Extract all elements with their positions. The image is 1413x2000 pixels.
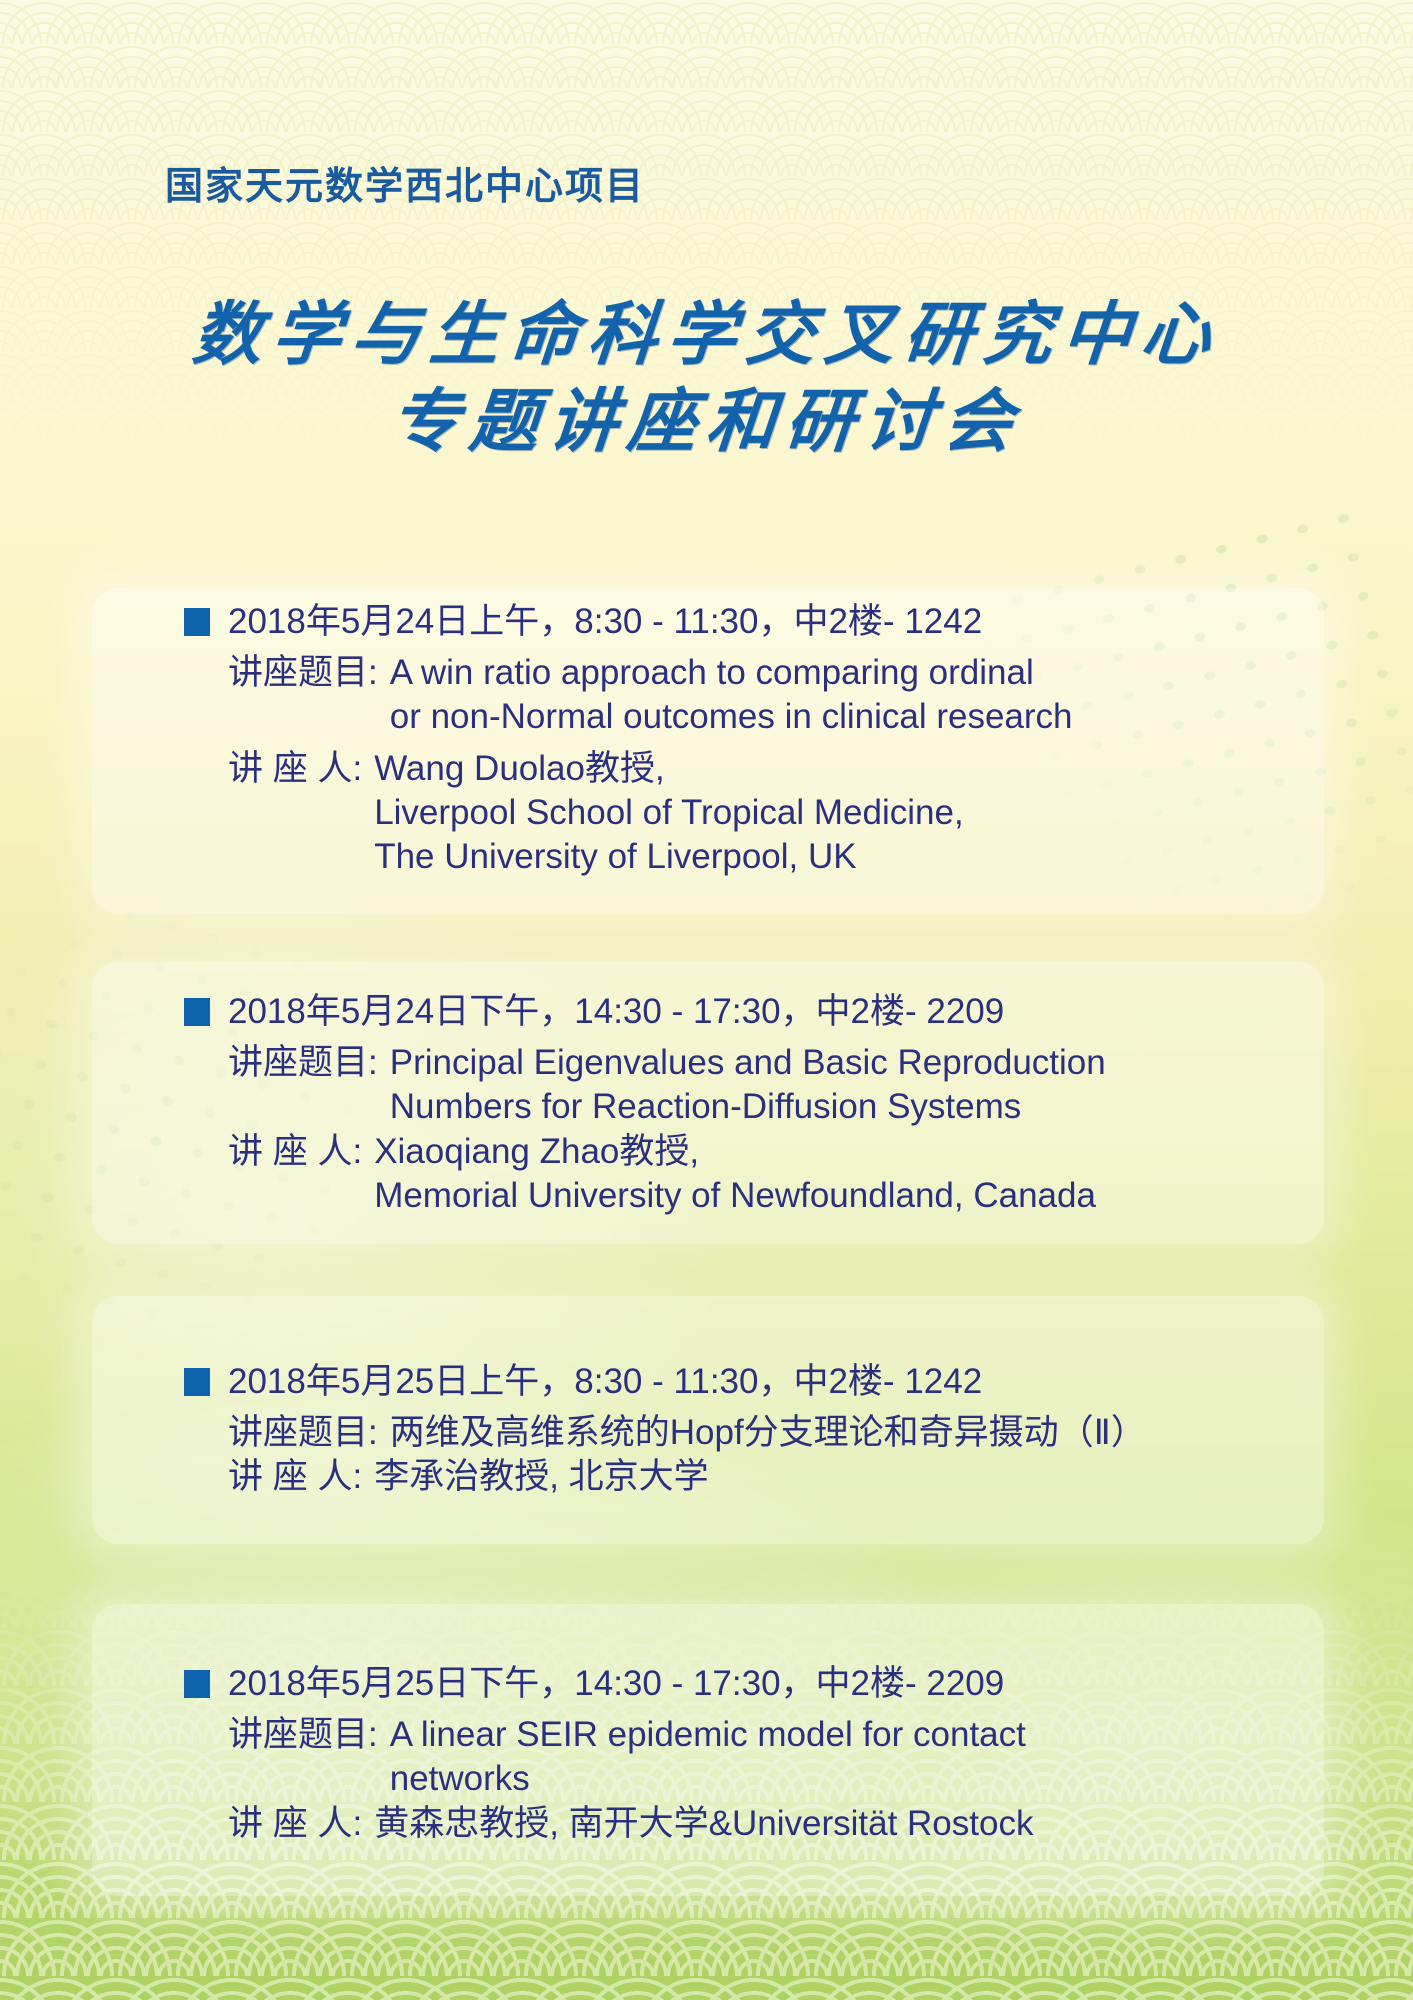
session-speaker-row: 讲 座 人: Xiaoqiang Zhao教授, Memorial Univer… bbox=[228, 1130, 1106, 1218]
session-topic-label: 讲座题目: bbox=[228, 1411, 378, 1455]
session-topic-value: Principal Eigenvalues and Basic Reproduc… bbox=[390, 1041, 1106, 1129]
poster-title-line-2: 专题讲座和研讨会 bbox=[0, 379, 1413, 466]
session-topic-row: 讲座题目: 两维及高维系统的Hopf分支理论和奇异摄动（Ⅱ） bbox=[228, 1411, 1146, 1455]
session-topic-value: A linear SEIR epidemic model for contact… bbox=[390, 1713, 1034, 1801]
session-speaker-value: Wang Duolao教授, Liverpool School of Tropi… bbox=[374, 747, 1072, 879]
poster-title-line-1: 数学与生命科学交叉研究中心 bbox=[0, 292, 1413, 379]
session-speaker-label: 讲 座 人: bbox=[228, 1455, 362, 1499]
organization-line: 国家天元数学西北中心项目 bbox=[165, 155, 645, 210]
session-speaker-row: 讲 座 人: Wang Duolao教授, Liverpool School o… bbox=[228, 747, 1073, 879]
session-speaker-label: 讲 座 人: bbox=[228, 747, 362, 791]
session-topic-label: 讲座题目: bbox=[228, 1041, 378, 1085]
poster-title: 数学与生命科学交叉研究中心 专题讲座和研讨会 bbox=[0, 292, 1413, 466]
session-topic-row: 讲座题目: A win ratio approach to comparing … bbox=[228, 651, 1073, 739]
session-speaker-row: 讲 座 人: 黄森忠教授, 南开大学&Universität Rostock bbox=[228, 1802, 1033, 1846]
session-entry: 2018年5月24日下午，14:30 - 17:30，中2楼- 2209 讲座题… bbox=[228, 990, 1106, 1218]
session-speaker-value: Xiaoqiang Zhao教授, Memorial University of… bbox=[374, 1130, 1106, 1218]
session-bullet-icon bbox=[184, 608, 210, 636]
session-entry: 2018年5月25日下午，14:30 - 17:30，中2楼- 2209 讲座题… bbox=[228, 1662, 1033, 1846]
session-bullet-icon bbox=[184, 1368, 210, 1396]
session-speaker-row: 讲 座 人: 李承治教授, 北京大学 bbox=[228, 1455, 1146, 1499]
session-speaker-label: 讲 座 人: bbox=[228, 1802, 362, 1846]
session-topic-label: 讲座题目: bbox=[228, 651, 378, 695]
session-datetime-venue: 2018年5月24日上午，8:30 - 11:30，中2楼- 1242 bbox=[228, 600, 1073, 643]
session-speaker-label: 讲 座 人: bbox=[228, 1130, 362, 1174]
session-bullet-icon bbox=[184, 998, 210, 1026]
session-speaker-value: 李承治教授, 北京大学 bbox=[374, 1455, 1146, 1499]
session-topic-row: 讲座题目: A linear SEIR epidemic model for c… bbox=[228, 1713, 1033, 1801]
session-speaker-value: 黄森忠教授, 南开大学&Universität Rostock bbox=[374, 1802, 1033, 1846]
session-topic-value: 两维及高维系统的Hopf分支理论和奇异摄动（Ⅱ） bbox=[390, 1411, 1146, 1455]
session-topic-label: 讲座题目: bbox=[228, 1713, 378, 1757]
session-bullet-icon bbox=[184, 1670, 210, 1698]
session-datetime-venue: 2018年5月25日下午，14:30 - 17:30，中2楼- 2209 bbox=[228, 1662, 1033, 1705]
conference-poster: 国家天元数学西北中心项目 数学与生命科学交叉研究中心 专题讲座和研讨会 2018… bbox=[0, 0, 1413, 2000]
session-topic-row: 讲座题目: Principal Eigenvalues and Basic Re… bbox=[228, 1041, 1106, 1129]
session-topic-value: A win ratio approach to comparing ordina… bbox=[390, 651, 1073, 739]
session-datetime-venue: 2018年5月24日下午，14:30 - 17:30，中2楼- 2209 bbox=[228, 990, 1106, 1033]
session-entry: 2018年5月24日上午，8:30 - 11:30，中2楼- 1242 讲座题目… bbox=[228, 600, 1073, 879]
session-entry: 2018年5月25日上午，8:30 - 11:30，中2楼- 1242 讲座题目… bbox=[228, 1360, 1146, 1500]
session-datetime-venue: 2018年5月25日上午，8:30 - 11:30，中2楼- 1242 bbox=[228, 1360, 1146, 1403]
